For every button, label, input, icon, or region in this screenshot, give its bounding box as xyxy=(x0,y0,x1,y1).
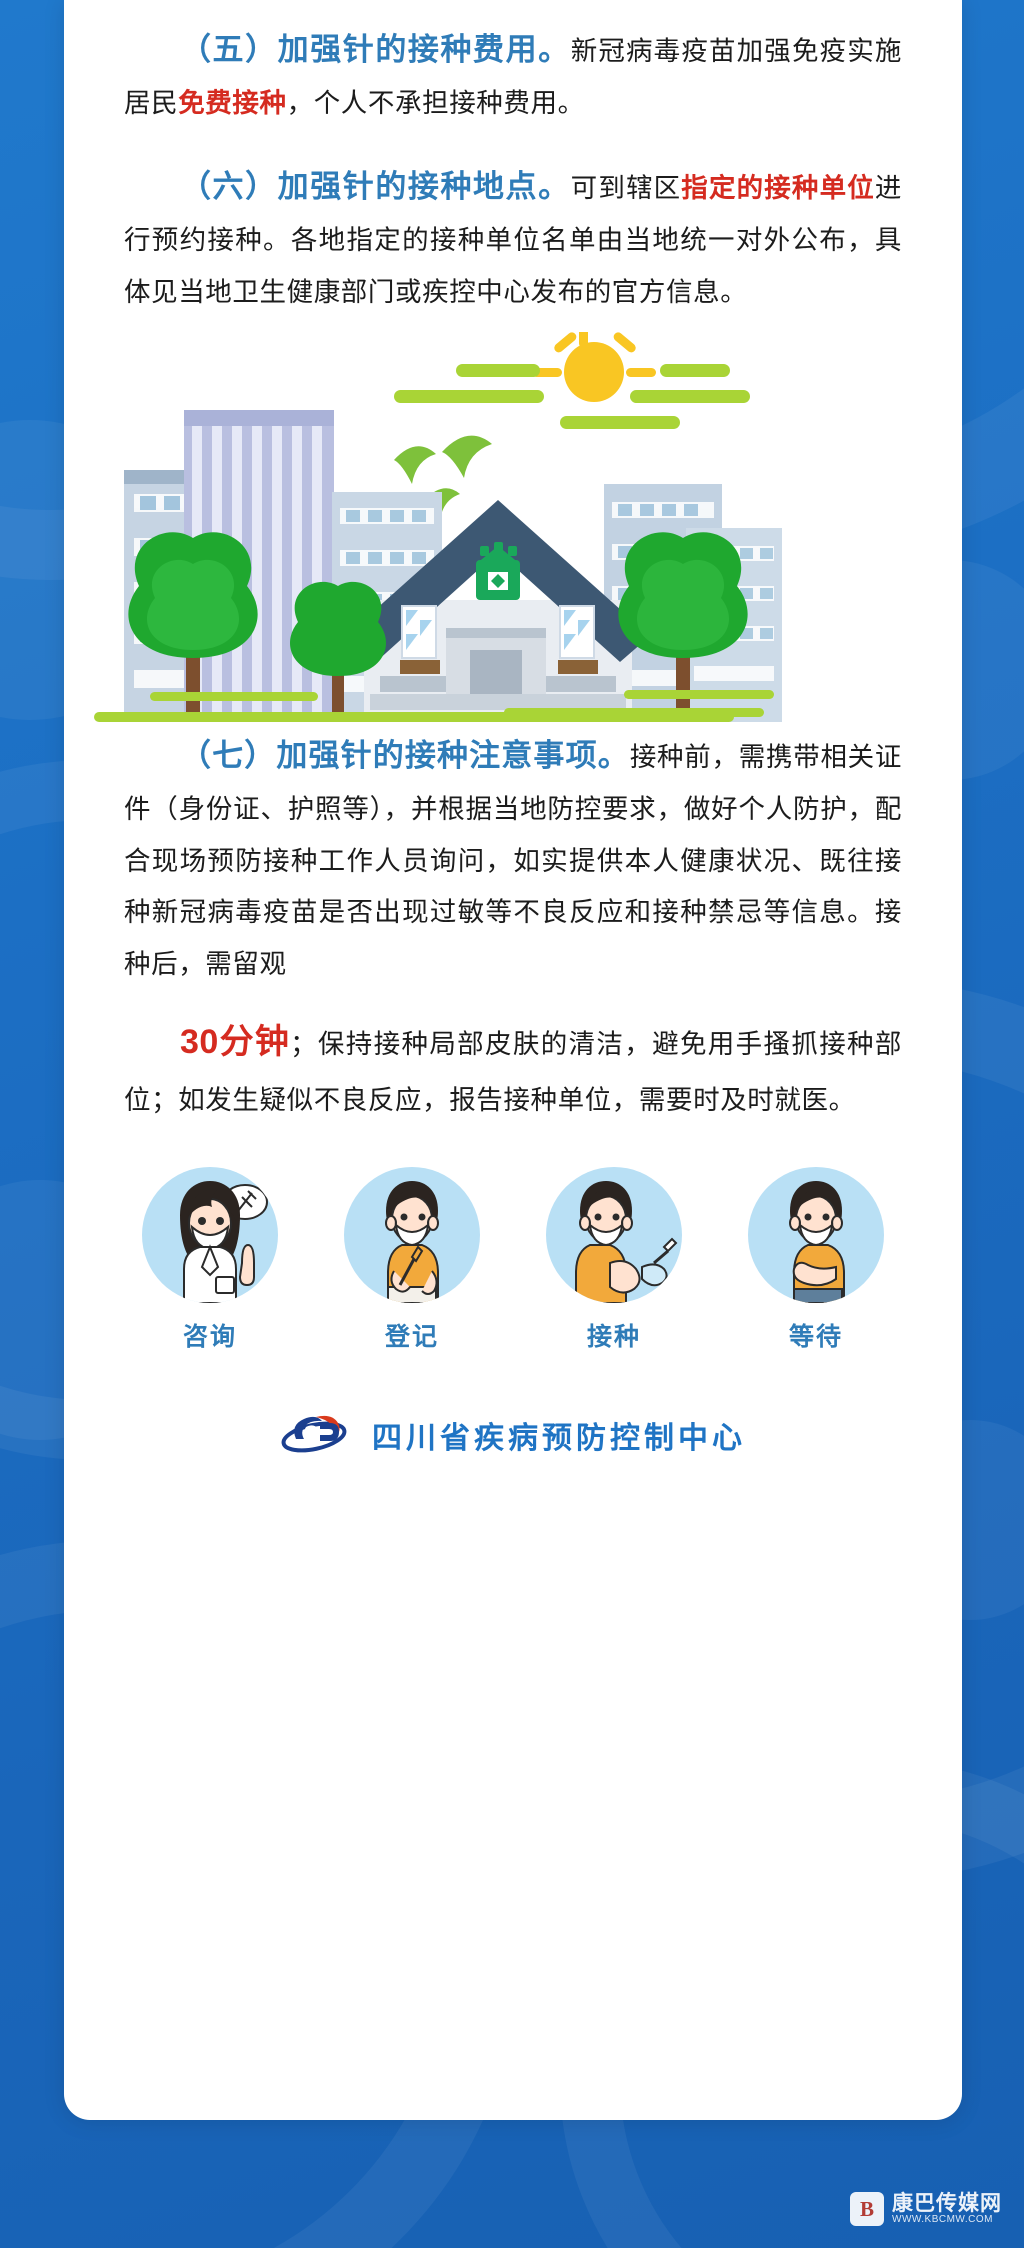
poster-card: （五）加强针的接种费用。新冠病毒疫苗加强免疫实施居民免费接种，个人不承担接种费用… xyxy=(64,0,962,2120)
section-five-paragraph: （五）加强针的接种费用。新冠病毒疫苗加强免疫实施居民免费接种，个人不承担接种费用… xyxy=(124,26,902,129)
footer-org-name: 四川省疾病预防控制中心 xyxy=(372,1413,746,1457)
section-five-heading: （五）加强针的接种费用。 xyxy=(180,32,571,67)
step-waiting-label: 等待 xyxy=(732,1317,900,1353)
step-registration: 登记 xyxy=(328,1167,496,1353)
section-six: （六）加强针的接种地点。可到辖区指定的接种单位进行预约接种。各地指定的接种单位名… xyxy=(64,129,962,318)
section-seven: （七）加强针的接种注意事项。接种前，需携带相关证件（身份证、护照等），并根据当地… xyxy=(64,722,962,990)
watermark-site-name: 康巴传媒网 xyxy=(892,2193,1002,2215)
section-seven-paragraph-2: 30分钟；保持接种局部皮肤的清洁，避免用手搔抓接种部位；如发生疑似不良反应，报告… xyxy=(124,1009,902,1127)
section-five: （五）加强针的接种费用。新冠病毒疫苗加强免疫实施居民免费接种，个人不承担接种费用… xyxy=(64,0,962,129)
watermark-badge: B xyxy=(850,2192,884,2226)
section-seven-paragraph-1: （七）加强针的接种注意事项。接种前，需携带相关证件（身份证、护照等），并根据当地… xyxy=(124,732,902,990)
step-waiting: 等待 xyxy=(732,1167,900,1353)
vaccination-steps: 咨询 xyxy=(64,1127,962,1353)
watermark: B 康巴传媒网 WWW.KBCMW.COM xyxy=(850,2192,1002,2226)
cdc-logo-sign xyxy=(476,542,520,600)
watermark-text: 康巴传媒网 WWW.KBCMW.COM xyxy=(892,2193,1002,2226)
registration-icon xyxy=(344,1167,480,1303)
section-six-highlight: 指定的接种单位 xyxy=(681,173,875,203)
consult-doctor-icon xyxy=(142,1167,278,1303)
section-six-text-1: 可到辖区 xyxy=(571,173,682,203)
cdc-logo-icon xyxy=(280,1409,354,1462)
section-seven-continued: 30分钟；保持接种局部皮肤的清洁，避免用手搔抓接种部位；如发生疑似不良反应，报告… xyxy=(64,991,962,1127)
vaccination-clinic-illustration xyxy=(64,332,962,722)
injection-icon xyxy=(546,1167,682,1303)
step-consult: 咨询 xyxy=(126,1167,294,1353)
step-injection-label: 接种 xyxy=(530,1317,698,1353)
watermark-site-url: WWW.KBCMW.COM xyxy=(892,2215,1002,2226)
waiting-icon xyxy=(748,1167,884,1303)
observation-duration: 30分钟 xyxy=(180,1023,290,1061)
step-registration-label: 登记 xyxy=(328,1317,496,1353)
step-injection: 接种 xyxy=(530,1167,698,1353)
section-seven-text-1: 接种前，需携带相关证件（身份证、护照等），并根据当地防控要求，做好个人防护，配合… xyxy=(124,742,902,979)
section-six-paragraph: （六）加强针的接种地点。可到辖区指定的接种单位进行预约接种。各地指定的接种单位名… xyxy=(124,163,902,318)
step-consult-label: 咨询 xyxy=(126,1317,294,1353)
section-six-heading: （六）加强针的接种地点。 xyxy=(180,169,571,204)
footer: 四川省疾病预防控制中心 xyxy=(64,1409,962,1502)
section-five-text-2: ，个人不承担接种费用。 xyxy=(287,88,585,118)
section-seven-heading: （七）加强针的接种注意事项。 xyxy=(180,738,630,773)
section-five-highlight: 免费接种 xyxy=(178,88,286,118)
